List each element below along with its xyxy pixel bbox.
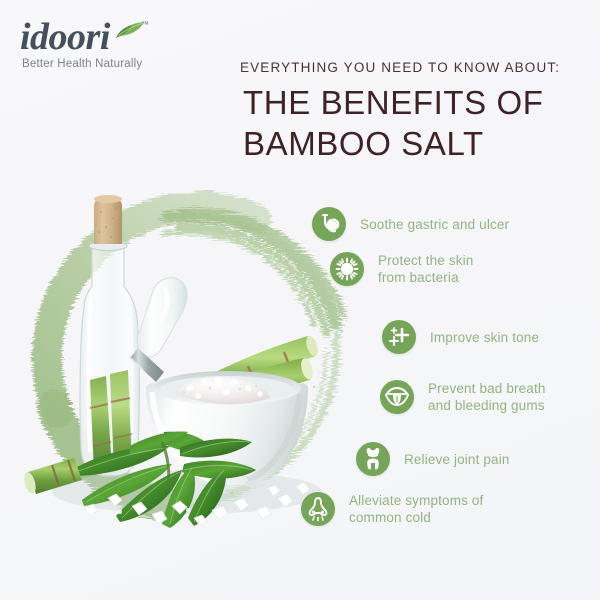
list-item: Protect the skin from bacteria [330, 252, 473, 286]
knee-joint-icon [356, 442, 390, 476]
list-item: Prevent bad breath and bleeding gums [380, 380, 546, 414]
list-item-label: Relieve joint pain [404, 451, 510, 468]
sparkle-icon [382, 320, 416, 354]
list-item-label: Soothe gastric and ulcer [360, 216, 509, 233]
nose-icon [301, 492, 335, 526]
benefits-list: Soothe gastric and ulcer [0, 0, 600, 600]
list-item: Soothe gastric and ulcer [312, 207, 509, 241]
stomach-icon [312, 207, 346, 241]
list-item-label: Improve skin tone [430, 329, 539, 346]
list-item: Alleviate symptoms of common cold [301, 492, 483, 526]
bacteria-icon [330, 252, 364, 286]
list-item-label: Alleviate symptoms of common cold [349, 492, 483, 526]
list-item: Relieve joint pain [356, 442, 510, 476]
list-item-label: Prevent bad breath and bleeding gums [428, 380, 546, 414]
list-item: Improve skin tone [382, 320, 539, 354]
infographic-poster: idoori ™ Better Health Naturally EVERYTH… [0, 0, 600, 600]
mouth-tongue-icon [380, 380, 414, 414]
list-item-label: Protect the skin from bacteria [378, 252, 473, 286]
